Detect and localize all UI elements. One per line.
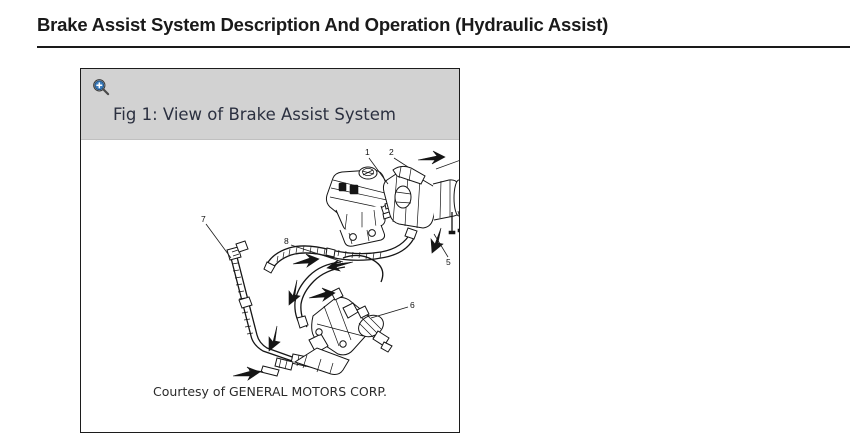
callout-number: 8 <box>284 236 289 246</box>
pressure-hose-braided <box>264 228 417 273</box>
callout-number: 7 <box>201 214 206 224</box>
figure-title: Fig 1: View of Brake Assist System <box>113 105 396 124</box>
callout-number: 5 <box>446 257 451 267</box>
hydraulic-brake-booster <box>383 166 459 228</box>
magnifier-plus-icon[interactable] <box>92 78 110 96</box>
title-divider <box>37 46 850 48</box>
figure-header: Fig 1: View of Brake Assist System <box>81 69 459 140</box>
figure-credit: Courtesy of GENERAL MOTORS CORP. <box>81 384 459 399</box>
page-title: Brake Assist System Description And Oper… <box>37 14 608 36</box>
callout-number: 1 <box>365 147 370 157</box>
callout-number: 2 <box>389 147 394 157</box>
figure-container: Fig 1: View of Brake Assist System <box>80 68 460 433</box>
power-steering-pump <box>355 306 392 352</box>
callout-number: 6 <box>410 300 415 310</box>
figure-body: 1 2 3 4 5 6 7 8 Courtesy of GENERAL MOTO… <box>81 140 459 432</box>
brake-assist-system-diagram: 1 2 3 4 5 6 7 8 <box>81 140 459 395</box>
